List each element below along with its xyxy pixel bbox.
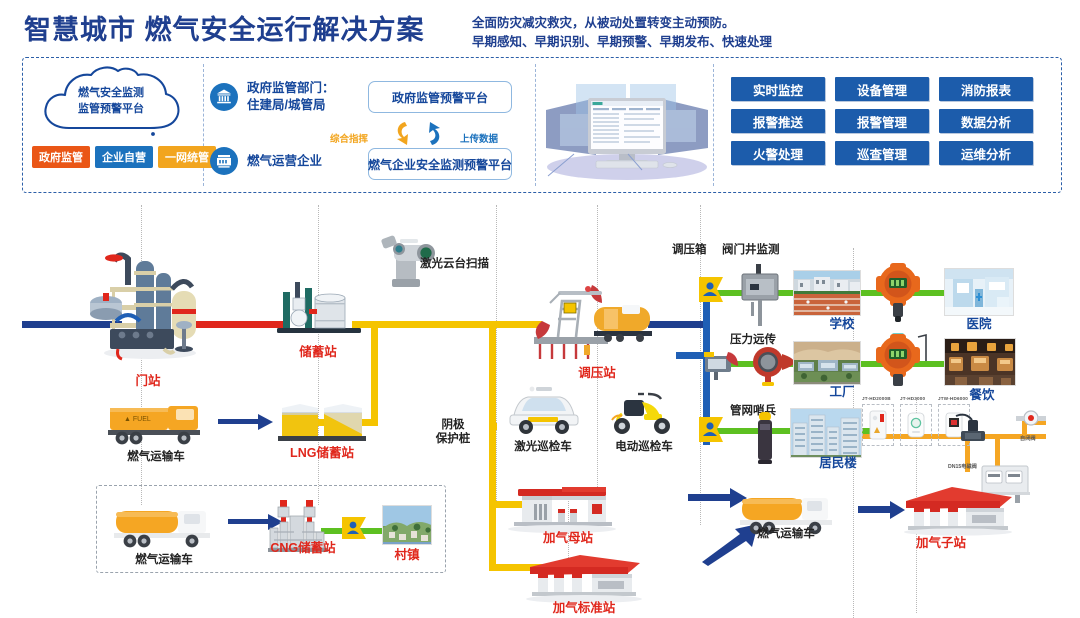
- label-anode-pile: 阴极保护桩: [436, 418, 471, 447]
- label-sub-gas-station: 加气子站: [916, 536, 966, 552]
- badge-enterprise[interactable]: 企业自营: [95, 146, 153, 168]
- svg-text:▲ FUEL: ▲ FUEL: [124, 416, 151, 423]
- school-photo: [793, 270, 861, 316]
- subtitle-line-1: 全面防灾减灾救灾，从被动处置转变主动预防。: [472, 14, 772, 33]
- label-storage-station: 储蓄站: [299, 345, 337, 361]
- gas-detector-1-icon: [874, 262, 922, 324]
- pipe-branch-down-lng-yellow: [371, 321, 378, 426]
- fn-btn-ops-analysis[interactable]: 运维分析: [939, 141, 1033, 165]
- label-restaurant: 餐饮: [969, 388, 994, 404]
- badge-unified-network[interactable]: 一网统管: [158, 146, 216, 168]
- fn-btn-fire-handling[interactable]: 火警处理: [731, 141, 825, 165]
- solution-overview-poster: 智慧城市 燃气安全运行解决方案 全面防灾减灾救灾，从被动处置转变主动预防。 早期…: [0, 0, 1080, 618]
- electric-patrol-car-illustration: [608, 388, 680, 436]
- government-platform-box[interactable]: 政府监管预警平台: [368, 81, 512, 113]
- device-1-model: JT-HD2000B: [862, 396, 891, 402]
- factory-photo: [793, 341, 861, 385]
- device-2-model: JT-HD3000: [900, 396, 925, 402]
- enterprise-org-label: 燃气运营企业: [247, 153, 322, 170]
- label-village: 村镇: [394, 548, 419, 564]
- laser-gimbal-illustration: [370, 215, 450, 295]
- label-cng-station: CNG储蓄站: [270, 541, 335, 557]
- label-laser-gimbal: 激光云台扫描: [420, 257, 489, 271]
- label-regulator-box: 调压箱: [672, 243, 707, 257]
- label-gate-station: 门站: [135, 374, 160, 390]
- function-button-grid: 实时监控 设备管理 消防报表 报警推送 报警管理 数据分析 火警处理 巡查管理 …: [731, 77, 1033, 165]
- label-valve-well: 阀门井监测: [722, 243, 780, 257]
- pipe-regulator-out-blue: [648, 321, 710, 328]
- cloud-platform: 燃气安全监测 监管预警平台: [36, 66, 186, 136]
- fn-btn-patrol-management[interactable]: 巡查管理: [835, 141, 929, 165]
- label-school: 学校: [829, 317, 854, 333]
- fn-btn-device-management[interactable]: 设备管理: [835, 77, 929, 101]
- restaurant-photo: [944, 338, 1016, 386]
- pressure-gauge-icon: [750, 344, 798, 386]
- arrow-truck-to-sub-station: [858, 500, 906, 520]
- desktop-monitor-dashboard-illustration: [534, 70, 720, 182]
- government-building-icon: [210, 83, 238, 111]
- device-3-model: JTW-HD6000: [938, 396, 968, 402]
- self-closing-valve-icon: [1014, 409, 1048, 433]
- label-residential: 居民楼: [819, 456, 857, 472]
- fn-btn-data-analysis[interactable]: 数据分析: [939, 109, 1033, 133]
- pressure-telemetry-unit-left-icon: [702, 340, 742, 380]
- pipeline-sentry-device-icon: [752, 410, 778, 466]
- cloud-platform-label: 燃气安全监测 监管预警平台: [36, 86, 186, 118]
- enterprise-org-row: 燃气运营企业: [210, 147, 322, 175]
- solenoid-valve-label: DN15电磁阀: [948, 464, 977, 471]
- divider-dotted-3: [496, 205, 497, 505]
- village-photo: [382, 505, 432, 545]
- enterprise-platform-box[interactable]: 燃气企业安全监测预警平台: [368, 148, 512, 180]
- residential-photo: [790, 408, 862, 458]
- regulator-station-illustration: [528, 275, 654, 367]
- fn-btn-realtime-monitor[interactable]: 实时监控: [731, 77, 825, 101]
- factory-icon: [210, 147, 238, 175]
- arrow-truck-to-lng: [218, 412, 274, 432]
- pipe-storage-to-regulator-yellow: [352, 321, 542, 328]
- label-mother-gas-station: 加气母站: [543, 531, 593, 547]
- label-factory: 工厂: [829, 385, 854, 401]
- pipe-main-vertical-yellow: [489, 321, 496, 571]
- arrow-label-command: 综合指挥: [330, 131, 368, 145]
- regulator-box-device: [738, 262, 782, 328]
- label-hospital: 医院: [966, 317, 991, 333]
- fn-btn-alarm-push[interactable]: 报警推送: [731, 109, 825, 133]
- label-regulator-station: 调压站: [578, 366, 616, 382]
- gov-label-line-2: 住建局/城管局: [247, 98, 325, 112]
- cng-valve-marker-icon: [340, 515, 368, 545]
- fn-btn-fire-report[interactable]: 消防报表: [939, 77, 1033, 101]
- subtitle-line-2: 早期感知、早期识别、早期预警、早期发布、快速处理: [472, 33, 772, 52]
- pipeline-sentry-valve-marker-icon: [697, 415, 725, 449]
- arrow-label-upload: 上传数据: [460, 131, 498, 145]
- page-title: 智慧城市 燃气安全运行解决方案: [24, 8, 425, 47]
- fn-btn-alarm-management[interactable]: 报警管理: [835, 109, 929, 133]
- device-1-alarm-icon: [868, 409, 888, 441]
- gas-truck-1-illustration: ▲ FUEL: [106, 400, 206, 448]
- label-standard-gas-station: 加气标准站: [553, 601, 616, 617]
- gate-station-illustration: [88, 243, 208, 363]
- gas-detector-2-icon: [874, 333, 934, 393]
- valve-well-marker-icon: [697, 275, 725, 309]
- label-laser-patrol-car: 激光巡检车: [514, 440, 572, 454]
- cloud-label-line-1: 燃气安全监测: [36, 86, 186, 102]
- sub-gas-station-illustration: [900, 485, 1018, 535]
- label-gas-truck-1: 燃气运输车: [127, 450, 185, 464]
- cloud-label-line-2: 监管预警平台: [36, 102, 186, 118]
- hospital-photo: [944, 268, 1014, 316]
- mother-gas-station-illustration: [500, 487, 624, 535]
- gas-truck-2-illustration: [112, 503, 216, 551]
- self-closing-valve-label: 自闭阀: [1020, 436, 1036, 443]
- standard-gas-station-illustration: [520, 553, 648, 603]
- badge-government[interactable]: 政府监管: [32, 146, 90, 168]
- device-2-alarm-icon: [906, 409, 926, 441]
- storage-station-illustration: [275, 276, 365, 338]
- lng-station-illustration: [276, 398, 368, 444]
- solenoid-valve-icon: [952, 412, 988, 446]
- pipe-node-anode: [489, 423, 497, 430]
- government-org-label: 政府监管部门： 住建局/城管局: [247, 80, 335, 114]
- gov-label-line-1: 政府监管部门：: [247, 81, 335, 95]
- laser-patrol-car-illustration: [502, 385, 586, 437]
- platform-mode-badges: 政府监管 企业自营 一网统管: [32, 146, 216, 168]
- label-electric-patrol-car: 电动巡检车: [615, 440, 673, 454]
- page-subtitle: 全面防灾减灾救灾，从被动处置转变主动预防。 早期感知、早期识别、早期预警、早期发…: [472, 14, 772, 53]
- label-gas-truck-3: 燃气运输车: [757, 527, 815, 541]
- label-lng-station: LNG储蓄站: [290, 446, 354, 462]
- data-exchange-arrows: [394, 120, 456, 148]
- government-org-row: 政府监管部门： 住建局/城管局: [210, 80, 335, 114]
- label-gas-truck-2: 燃气运输车: [135, 553, 193, 567]
